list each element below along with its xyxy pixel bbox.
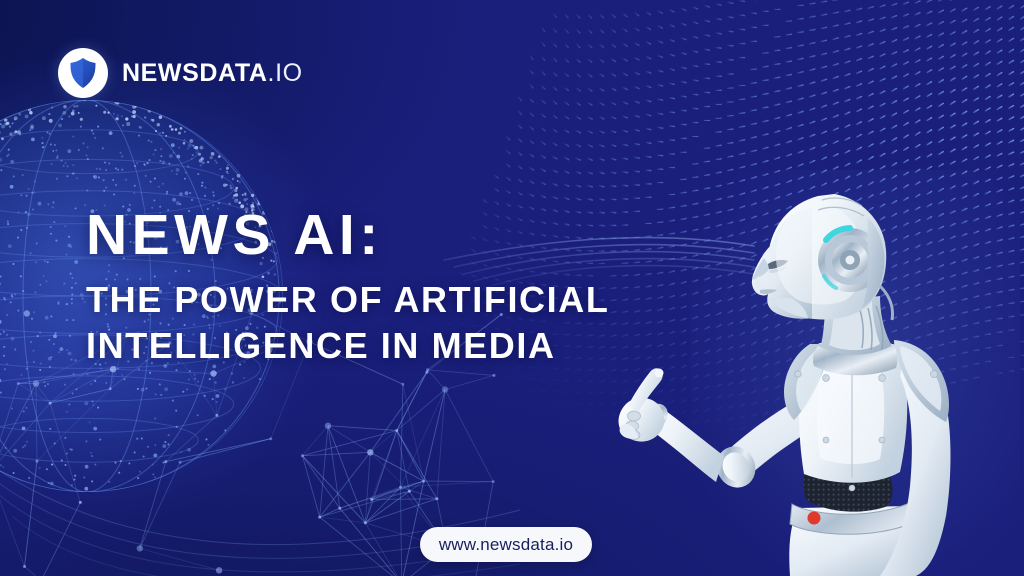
brand-name-bold: NEWSDATA	[122, 59, 268, 87]
page-title: NEWS AI: THE POWER OF ARTIFICIAL INTELLI…	[86, 206, 609, 368]
website-url-badge[interactable]: www.newsdata.io	[420, 527, 592, 562]
brand-name: NEWSDATA.IO	[122, 59, 303, 88]
headline-line-3: INTELLIGENCE IN MEDIA	[86, 323, 609, 368]
headline-line-1: NEWS AI:	[86, 206, 609, 265]
news-ai-banner: NEWSDATA.IO NEWS AI: THE POWER OF ARTIFI…	[0, 0, 1024, 576]
humanoid-robot-pointing-icon	[612, 178, 1024, 576]
brand-logo[interactable]: NEWSDATA.IO	[58, 48, 303, 98]
headline-line-2: THE POWER OF ARTIFICIAL	[86, 277, 609, 322]
website-url-text: www.newsdata.io	[439, 535, 573, 555]
brand-name-light: .IO	[268, 59, 303, 87]
shield-logo-icon	[58, 48, 108, 98]
